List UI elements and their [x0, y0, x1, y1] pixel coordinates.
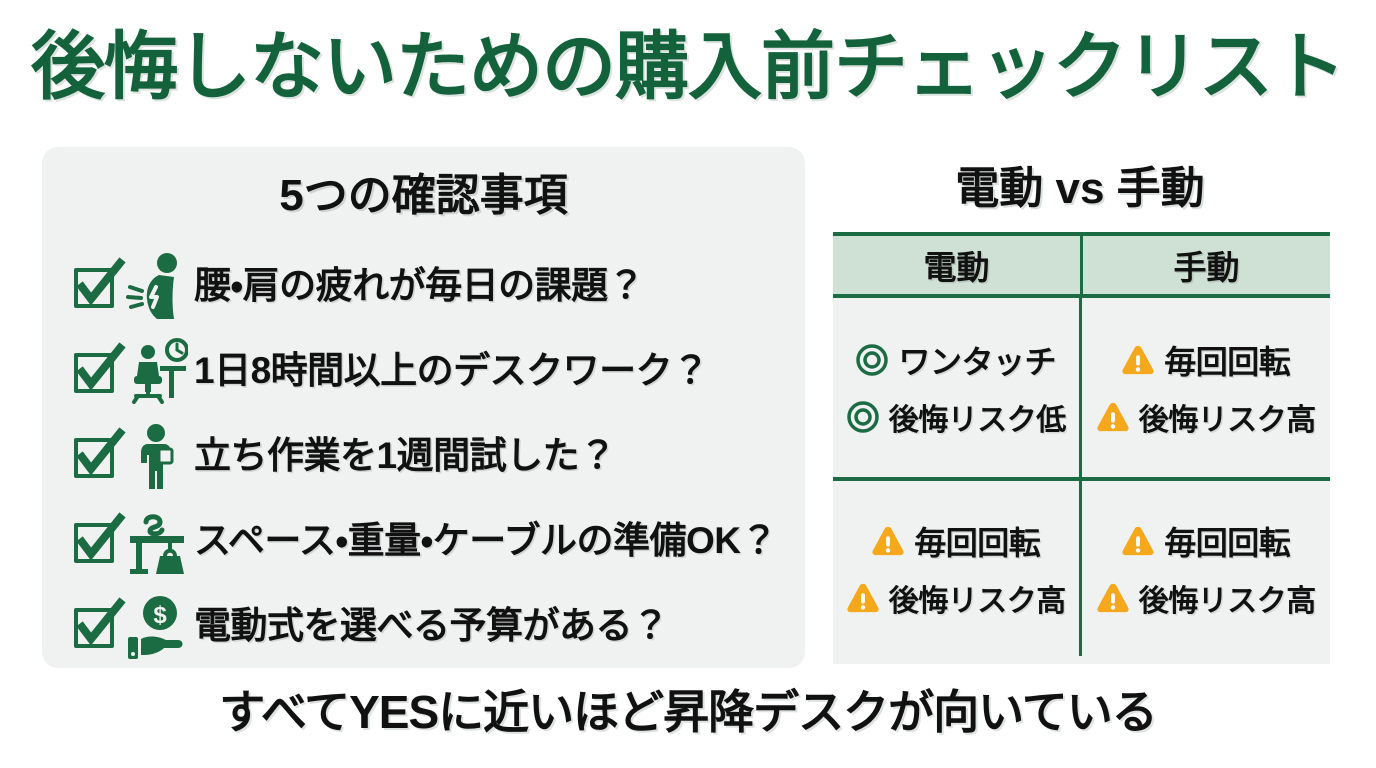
cell-line: 後悔リスク高 [1096, 395, 1316, 439]
table-cell-manual: 毎回回転 後悔リスク高 [1082, 481, 1331, 656]
comparison-title: 電動 vs 手動 [830, 162, 1330, 216]
cell-line: 毎回回転 [1121, 337, 1290, 383]
checklist-item[interactable]: 腰・肩の疲れが毎日の課題？ [60, 243, 805, 328]
checklist-item-label: 1日8時間以上のデスクワーク？ [194, 348, 709, 394]
checklist-panel: 5つの確認事項 腰・肩の疲れが毎日の課題？ [42, 147, 805, 668]
table-row: ワンタッチ 後悔リスク低 毎回回転 [833, 298, 1330, 477]
bottom-caption: すべてYESに近いほど昇降デスクが向いている [0, 683, 1376, 741]
cell-line: 毎回回転 [1121, 518, 1290, 564]
warning-triangle-icon [846, 581, 880, 615]
warning-triangle-icon [1096, 400, 1130, 434]
double-circle-icon [855, 343, 889, 377]
cell-label: 毎回回転 [1164, 337, 1290, 383]
cell-label: 後悔リスク高 [1139, 576, 1316, 620]
checked-checkbox-icon[interactable] [70, 599, 124, 653]
cell-line: 毎回回転 [871, 518, 1040, 564]
checked-checkbox-icon[interactable] [70, 514, 124, 568]
checklist-items: 腰・肩の疲れが毎日の課題？ [60, 243, 805, 668]
cell-label: 毎回回転 [914, 518, 1040, 564]
cell-label: 毎回回転 [1164, 518, 1290, 564]
warning-triangle-icon [1096, 581, 1130, 615]
svg-text:$: $ [153, 602, 167, 629]
table-header-cell-manual: 手動 [1083, 236, 1330, 294]
checklist-item-label: スペース・重量・ケーブルの準備OK？ [194, 518, 777, 564]
double-circle-icon [846, 400, 880, 434]
checked-checkbox-icon[interactable] [70, 429, 124, 483]
comparison-table: 電動 手動 ワンタッチ 後悔リスク低 [833, 232, 1330, 664]
cell-line: ワンタッチ [855, 337, 1056, 383]
table-row: 毎回回転 後悔リスク高 毎回回転 [833, 477, 1330, 656]
standing-person-icon [126, 421, 188, 491]
checked-checkbox-icon[interactable] [70, 259, 124, 313]
warning-triangle-icon [1121, 343, 1155, 377]
cell-line: 後悔リスク高 [1096, 576, 1316, 620]
warning-triangle-icon [1121, 524, 1155, 558]
cell-label: 後悔リスク低 [889, 395, 1066, 439]
checklist-item-label: 腰・肩の疲れが毎日の課題？ [194, 263, 644, 309]
cell-label: 後悔リスク高 [1139, 395, 1316, 439]
table-cell-manual: 毎回回転 後悔リスク高 [1082, 298, 1331, 477]
cell-line: 後悔リスク低 [846, 395, 1066, 439]
checklist-item[interactable]: スペース・重量・ケーブルの準備OK？ [60, 498, 805, 583]
table-cell-electric: ワンタッチ 後悔リスク低 [833, 298, 1082, 477]
checklist-item[interactable]: 立ち作業を1週間試した？ [60, 413, 805, 498]
checklist-item[interactable]: 1日8時間以上のデスクワーク？ [60, 328, 805, 413]
checklist-item[interactable]: $ 電動式を選べる予算がある？ [60, 583, 805, 668]
cell-label: ワンタッチ [898, 337, 1056, 383]
desk-worker-clock-icon [126, 336, 188, 406]
hand-money-icon: $ [126, 591, 188, 661]
table-header-cell-electric: 電動 [833, 236, 1083, 294]
desk-cable-weight-icon [126, 506, 188, 576]
table-header-row: 電動 手動 [833, 232, 1330, 298]
back-pain-person-icon [126, 251, 188, 321]
cell-line: 後悔リスク高 [846, 576, 1066, 620]
checklist-item-label: 電動式を選べる予算がある？ [194, 603, 669, 649]
table-cell-electric: 毎回回転 後悔リスク高 [833, 481, 1082, 656]
checked-checkbox-icon[interactable] [70, 344, 124, 398]
warning-triangle-icon [871, 524, 905, 558]
checklist-item-label: 立ち作業を1週間試した？ [194, 433, 616, 479]
page-title: 後悔しないための購入前チェックリスト [0, 22, 1376, 112]
checklist-heading: 5つの確認事項 [42, 169, 805, 223]
cell-label: 後悔リスク高 [889, 576, 1066, 620]
